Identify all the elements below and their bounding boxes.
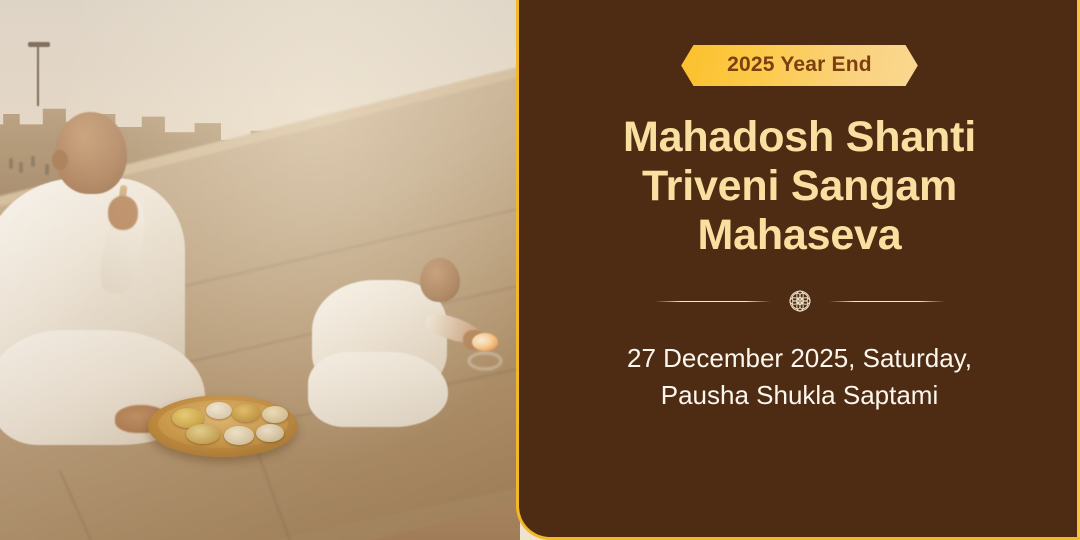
panel-content: 2025 Year End Mahadosh Shanti Triveni Sa… — [519, 0, 1080, 414]
rosette-flower-icon — [785, 286, 815, 316]
year-end-badge: 2025 Year End — [681, 45, 918, 86]
title-line-2: Triveni Sangam — [553, 162, 1046, 211]
event-title: Mahadosh Shanti Triveni Sangam Mahaseva — [553, 113, 1046, 260]
offering-bowl — [186, 424, 220, 444]
offering-bowl — [256, 424, 284, 442]
kneeling-priest-head — [420, 258, 460, 302]
divider-rule-right — [829, 301, 945, 302]
divider-rule-left — [655, 301, 771, 302]
announcement-panel: 2025 Year End Mahadosh Shanti Triveni Sa… — [516, 0, 1080, 540]
offering-bowl — [232, 404, 260, 422]
water-ripple — [468, 352, 502, 370]
offering-bowl — [262, 406, 288, 423]
offering-bowl — [224, 426, 254, 445]
seated-priest-hand — [108, 196, 138, 230]
seated-priest-ear — [52, 150, 68, 170]
poster-canvas: 2025 Year End Mahadosh Shanti Triveni Sa… — [0, 0, 1080, 540]
flower-offering-icon — [472, 333, 498, 351]
date-line-1: 27 December 2025, Saturday, — [553, 340, 1046, 377]
ornamental-divider — [553, 286, 1046, 316]
title-line-1: Mahadosh Shanti — [553, 113, 1046, 162]
lamp-post-icon — [37, 44, 39, 106]
title-line-3: Mahaseva — [553, 211, 1046, 260]
lamp-head-icon — [28, 42, 50, 47]
offering-bowl — [206, 402, 232, 419]
date-line-2: Pausha Shukla Saptami — [553, 377, 1046, 414]
ghat-ritual-photograph — [0, 0, 520, 540]
badge-row: 2025 Year End — [553, 45, 1046, 86]
kneeling-priest-legs — [308, 352, 448, 427]
event-date: 27 December 2025, Saturday, Pausha Shukl… — [553, 340, 1046, 414]
